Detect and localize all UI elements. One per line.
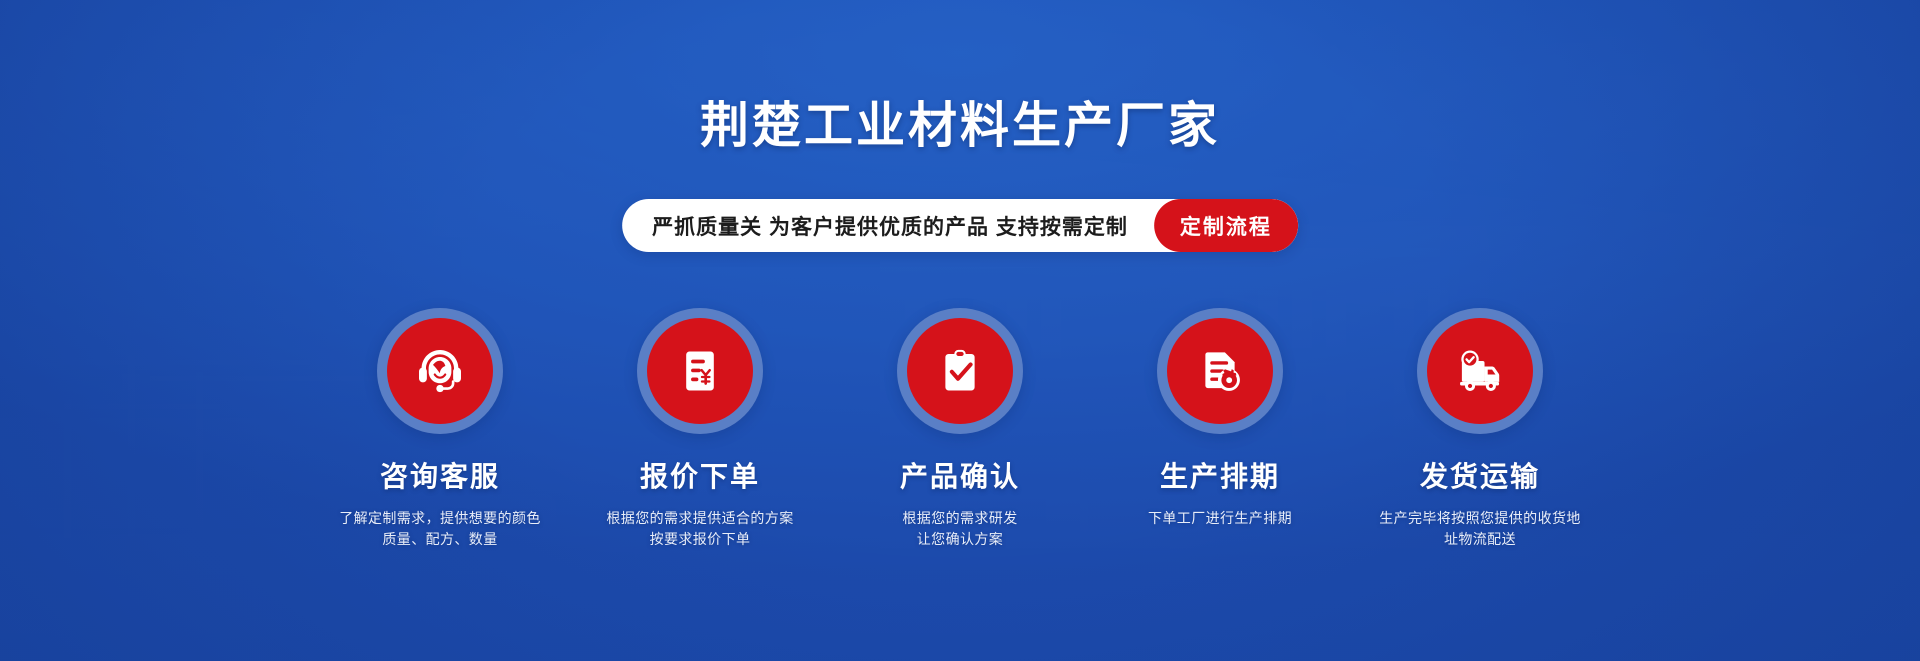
step-ring (637, 308, 763, 434)
document-gear-icon (1194, 345, 1246, 397)
step-title: 产品确认 (900, 455, 1020, 495)
process-step-quote[interactable]: 报价下单 根据您的需求提供适合的方案 按要求报价下单 (570, 308, 830, 549)
step-description: 根据您的需求提供适合的方案 按要求报价下单 (606, 508, 793, 549)
delivery-truck-check-icon (1451, 342, 1509, 400)
banner-content: 荆楚工业材料生产厂家 严抓质量关 为客户提供优质的产品 支持按需定制 定制流程 (0, 0, 1920, 661)
step-disc (907, 318, 1013, 424)
slogan-text: 严抓质量关 为客户提供优质的产品 支持按需定制 (652, 211, 1154, 241)
step-title: 咨询客服 (380, 455, 500, 495)
step-desc-line: 生产完毕将按照您提供的收货地 (1379, 508, 1581, 529)
step-desc-line: 根据您的需求研发 (902, 508, 1017, 529)
step-description: 了解定制需求，提供想要的颜色 质量、配方、数量 (339, 508, 541, 549)
step-disc (1167, 318, 1273, 424)
step-ring (377, 308, 503, 434)
process-step-consult[interactable]: 咨询客服 了解定制需求，提供想要的颜色 质量、配方、数量 (310, 308, 570, 549)
step-title: 报价下单 (640, 455, 760, 495)
slogan-pill-bar: 严抓质量关 为客户提供优质的产品 支持按需定制 定制流程 (622, 199, 1298, 252)
process-step-confirm[interactable]: 产品确认 根据您的需求研发 让您确认方案 (830, 308, 1090, 549)
quote-invoice-yuan-icon (674, 345, 726, 397)
step-desc-line: 下单工厂进行生产排期 (1148, 508, 1292, 529)
step-ring (1417, 308, 1543, 434)
step-title: 生产排期 (1160, 455, 1280, 495)
step-disc (387, 318, 493, 424)
step-desc-line: 址物流配送 (1379, 529, 1581, 550)
step-disc (1427, 318, 1533, 424)
step-desc-line: 质量、配方、数量 (339, 529, 541, 550)
process-step-delivery[interactable]: 发货运输 生产完毕将按照您提供的收货地 址物流配送 (1350, 308, 1610, 549)
step-desc-line: 根据您的需求提供适合的方案 (606, 508, 793, 529)
step-desc-line: 按要求报价下单 (606, 529, 793, 550)
step-description: 根据您的需求研发 让您确认方案 (902, 508, 1017, 549)
clipboard-check-icon (934, 345, 986, 397)
step-ring (897, 308, 1023, 434)
process-banner: 荆楚工业材料生产厂家 严抓质量关 为客户提供优质的产品 支持按需定制 定制流程 (0, 0, 1920, 661)
step-ring (1157, 308, 1283, 434)
process-step-schedule[interactable]: 生产排期 下单工厂进行生产排期 (1090, 308, 1350, 529)
headset-support-icon (412, 343, 468, 399)
step-title: 发货运输 (1420, 455, 1540, 495)
step-desc-line: 了解定制需求，提供想要的颜色 (339, 508, 541, 529)
step-disc (647, 318, 753, 424)
page-title: 荆楚工业材料生产厂家 (0, 98, 1920, 156)
process-steps: 咨询客服 了解定制需求，提供想要的颜色 质量、配方、数量 (310, 308, 1610, 549)
custom-process-button[interactable]: 定制流程 (1154, 199, 1298, 252)
step-description: 生产完毕将按照您提供的收货地 址物流配送 (1379, 508, 1581, 549)
step-description: 下单工厂进行生产排期 (1148, 508, 1292, 529)
step-desc-line: 让您确认方案 (902, 529, 1017, 550)
